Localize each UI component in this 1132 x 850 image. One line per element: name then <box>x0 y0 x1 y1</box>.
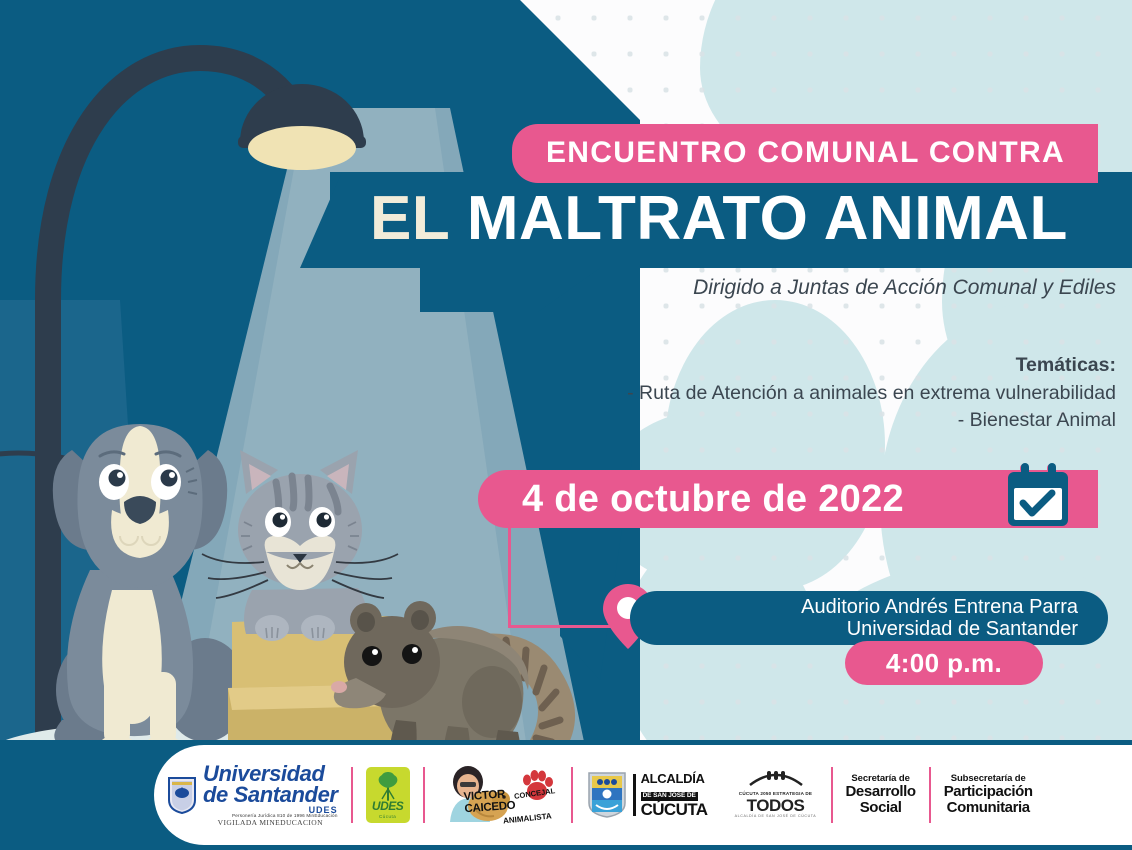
event-time: 4:00 p.m. <box>886 648 1002 679</box>
headline-part-1: EL <box>370 184 467 253</box>
todos-line-main: TODOS <box>734 797 818 815</box>
logo-subsecretaria-participacion-comunitaria: Subsecretaría de Participación Comunitar… <box>931 757 1046 833</box>
kicker-banner: ENCUENTRO COMUNAL CONTRA <box>512 124 1098 183</box>
venue-pill: Auditorio Andrés Entrena Parra Universid… <box>630 591 1108 645</box>
logo-concejal-victor-caicedo: CONCEJAL VICTOR CAICEDO ANIMALISTA <box>425 757 571 833</box>
topics-block: Temáticas: - Ruta de Atención a animales… <box>330 352 1116 435</box>
udes-line-2: de Santander <box>203 785 338 806</box>
alcaldia-line-1: ALCALDÍA <box>641 772 708 785</box>
udes-line-5: VIGILADA MINEDUCACION <box>203 819 338 826</box>
subsecretaria-line-3: Comunitaria <box>944 800 1033 816</box>
topics-heading: Temáticas: <box>330 352 1116 380</box>
calendar-check-icon <box>1004 462 1072 534</box>
logo-cucuta-todos: CÚCUTA 2050 ESTRATEGIA DE TODOS ALCALDÍA… <box>721 757 831 833</box>
dog-illustration <box>53 424 247 757</box>
subsecretaria-line-2: Participación <box>944 784 1033 800</box>
page-title: EL MALTRATO ANIMAL <box>370 183 1068 254</box>
kicker-text: ENCUENTRO COMUNAL CONTRA <box>546 136 1065 169</box>
udes-card-caption: UDES <box>372 799 403 813</box>
cucuta-coat-of-arms-icon <box>586 771 628 819</box>
time-pill: 4:00 p.m. <box>845 641 1043 685</box>
concejal-line-main: VICTOR CAICEDO <box>463 785 558 815</box>
udes-shield-icon <box>167 776 197 814</box>
secretaria-line-2: Desarrollo <box>846 784 916 800</box>
logo-udes-green-card: UDES Cúcuta <box>353 757 423 833</box>
logo-alcaldia-de-cucuta: ALCALDÍA DE SAN JOSÉ DE CÚCUTA <box>573 757 721 833</box>
secretaria-line-3: Social <box>846 800 916 816</box>
venue-line-2: Universidad de Santander <box>801 618 1078 640</box>
topic-item: - Bienestar Animal <box>330 407 1116 435</box>
topic-item: - Ruta de Atención a animales en extrema… <box>330 380 1116 408</box>
logo-universidad-de-santander: Universidad de Santander UDES Personería… <box>154 757 351 833</box>
venue-line-1: Auditorio Andrés Entrena Parra <box>801 596 1078 618</box>
poster-canvas: ENCUENTRO COMUNAL CONTRA EL MALTRATO ANI… <box>0 0 1132 850</box>
subtitle-text: Dirigido a Juntas de Acción Comunal y Ed… <box>330 276 1116 300</box>
event-date: 4 de octubre de 2022 <box>478 478 904 521</box>
headline-part-2: MALTRATO ANIMAL <box>467 184 1068 253</box>
alcaldia-line-3: CÚCUTA <box>641 801 708 818</box>
todos-swoosh-icon <box>747 771 805 787</box>
udes-card-caption-2: Cúcuta <box>379 814 396 819</box>
logo-secretaria-desarrollo-social: Secretaría de Desarrollo Social <box>833 757 929 833</box>
todos-line-sub: ALCALDÍA DE SAN JOSÉ DE CÚCUTA <box>734 815 818 819</box>
footer-logo-strip: Universidad de Santander UDES Personería… <box>154 745 1132 845</box>
